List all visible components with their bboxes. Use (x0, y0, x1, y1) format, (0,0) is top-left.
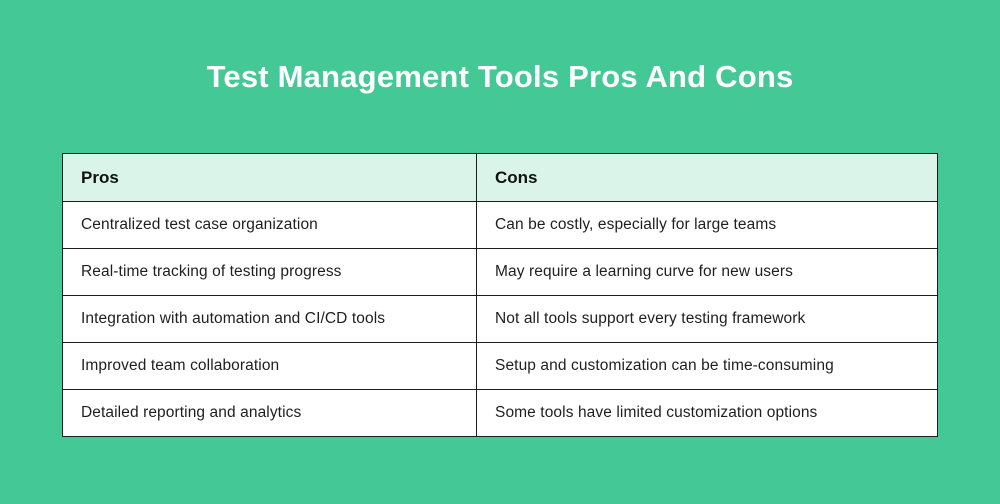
table-row: Integration with automation and CI/CD to… (63, 296, 938, 343)
cell-pros: Integration with automation and CI/CD to… (63, 296, 477, 343)
table-header: Pros Cons (63, 154, 938, 202)
pros-cons-table-container: Pros Cons Centralized test case organiza… (62, 153, 937, 437)
table-row: Centralized test case organization Can b… (63, 202, 938, 249)
cell-pros: Detailed reporting and analytics (63, 390, 477, 437)
cell-cons: Can be costly, especially for large team… (477, 202, 938, 249)
table-body: Centralized test case organization Can b… (63, 202, 938, 437)
page-title: Test Management Tools Pros And Cons (0, 58, 1000, 95)
cell-pros: Centralized test case organization (63, 202, 477, 249)
cell-cons: May require a learning curve for new use… (477, 249, 938, 296)
table-row: Improved team collaboration Setup and cu… (63, 343, 938, 390)
page-canvas: Test Management Tools Pros And Cons Pros… (0, 0, 1000, 504)
table-header-row: Pros Cons (63, 154, 938, 202)
cell-pros: Improved team collaboration (63, 343, 477, 390)
cell-cons: Some tools have limited customization op… (477, 390, 938, 437)
column-header-cons: Cons (477, 154, 938, 202)
table-row: Detailed reporting and analytics Some to… (63, 390, 938, 437)
cell-cons: Not all tools support every testing fram… (477, 296, 938, 343)
column-header-pros: Pros (63, 154, 477, 202)
table-row: Real-time tracking of testing progress M… (63, 249, 938, 296)
cell-cons: Setup and customization can be time-cons… (477, 343, 938, 390)
pros-cons-table: Pros Cons Centralized test case organiza… (62, 153, 938, 437)
cell-pros: Real-time tracking of testing progress (63, 249, 477, 296)
